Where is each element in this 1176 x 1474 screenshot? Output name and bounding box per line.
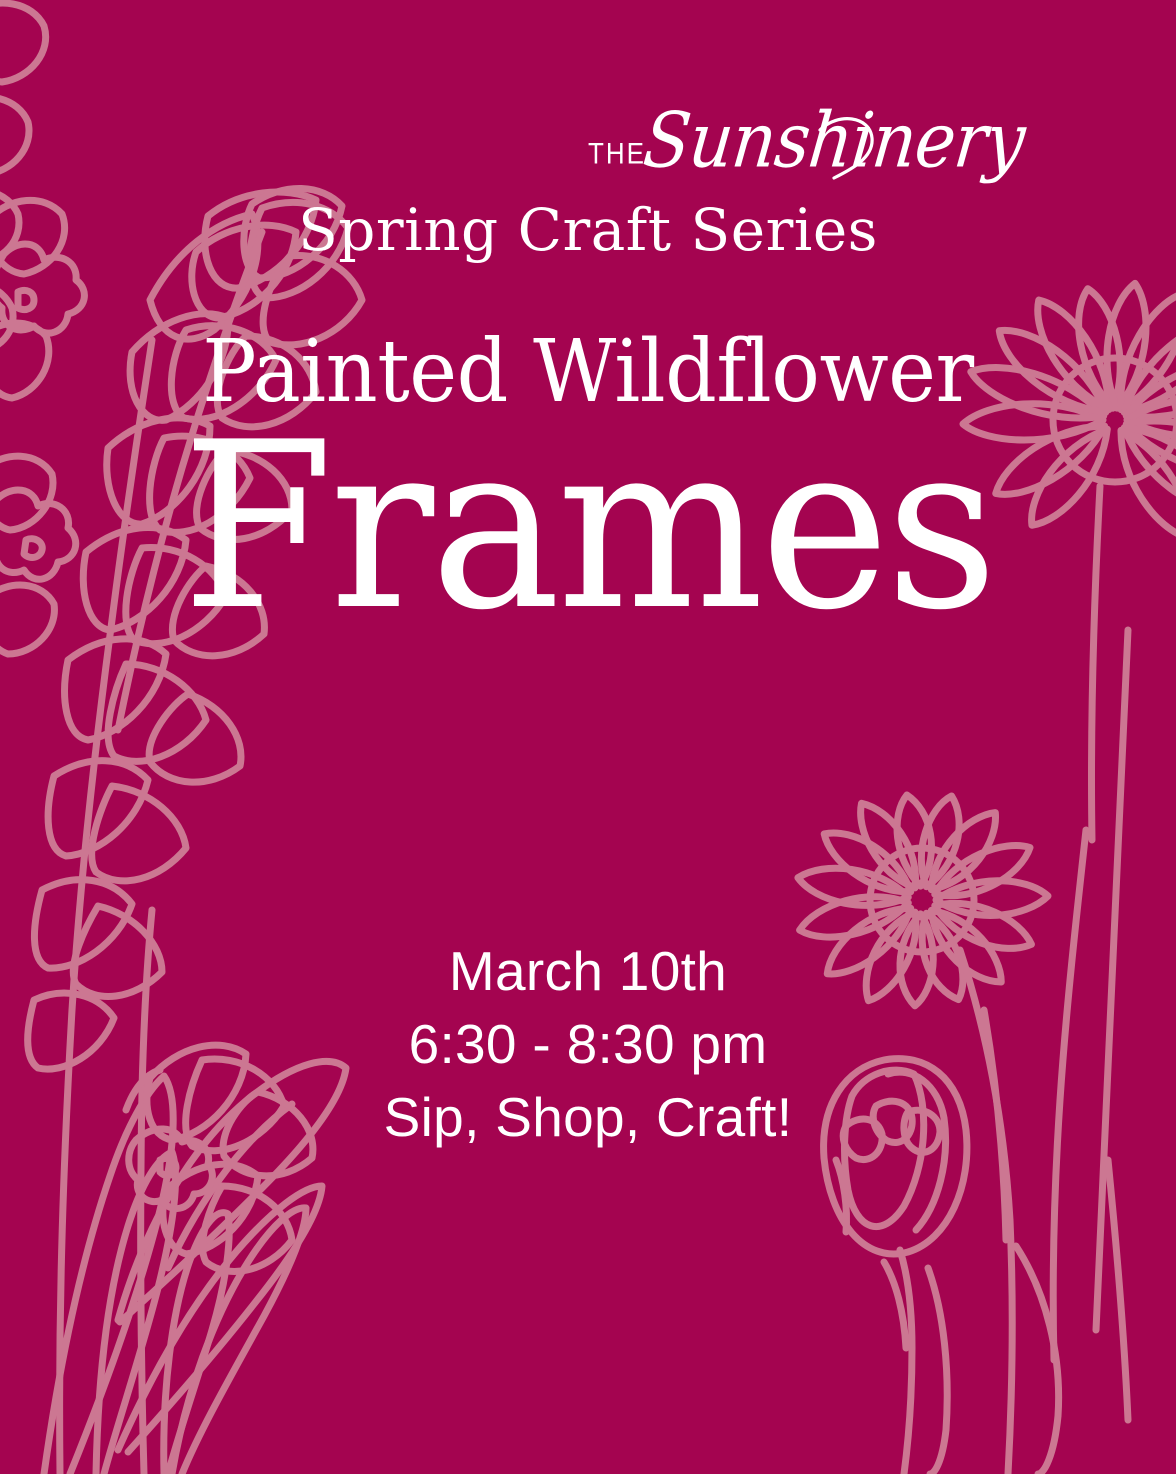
event-time: 6:30 - 8:30 pm: [0, 1008, 1176, 1081]
event-title: Painted Wildflower Frames: [0, 329, 1176, 638]
event-date: March 10th: [0, 935, 1176, 1008]
logo-the-text: THE: [588, 138, 646, 168]
title-line-two: Frames: [29, 419, 1146, 638]
series-title: Spring Craft Series: [0, 200, 1176, 261]
logo-flourish-icon: [816, 116, 878, 182]
event-details: March 10th 6:30 - 8:30 pm Sip, Shop, Cra…: [0, 935, 1176, 1153]
event-tagline: Sip, Shop, Craft!: [0, 1081, 1176, 1154]
poster-content: THE Sunshinery Spring Craft Series Paint…: [0, 0, 1176, 1474]
brand-logo: THE Sunshinery Spring Craft Series: [0, 112, 1176, 261]
event-poster: THE Sunshinery Spring Craft Series Paint…: [0, 0, 1176, 1474]
